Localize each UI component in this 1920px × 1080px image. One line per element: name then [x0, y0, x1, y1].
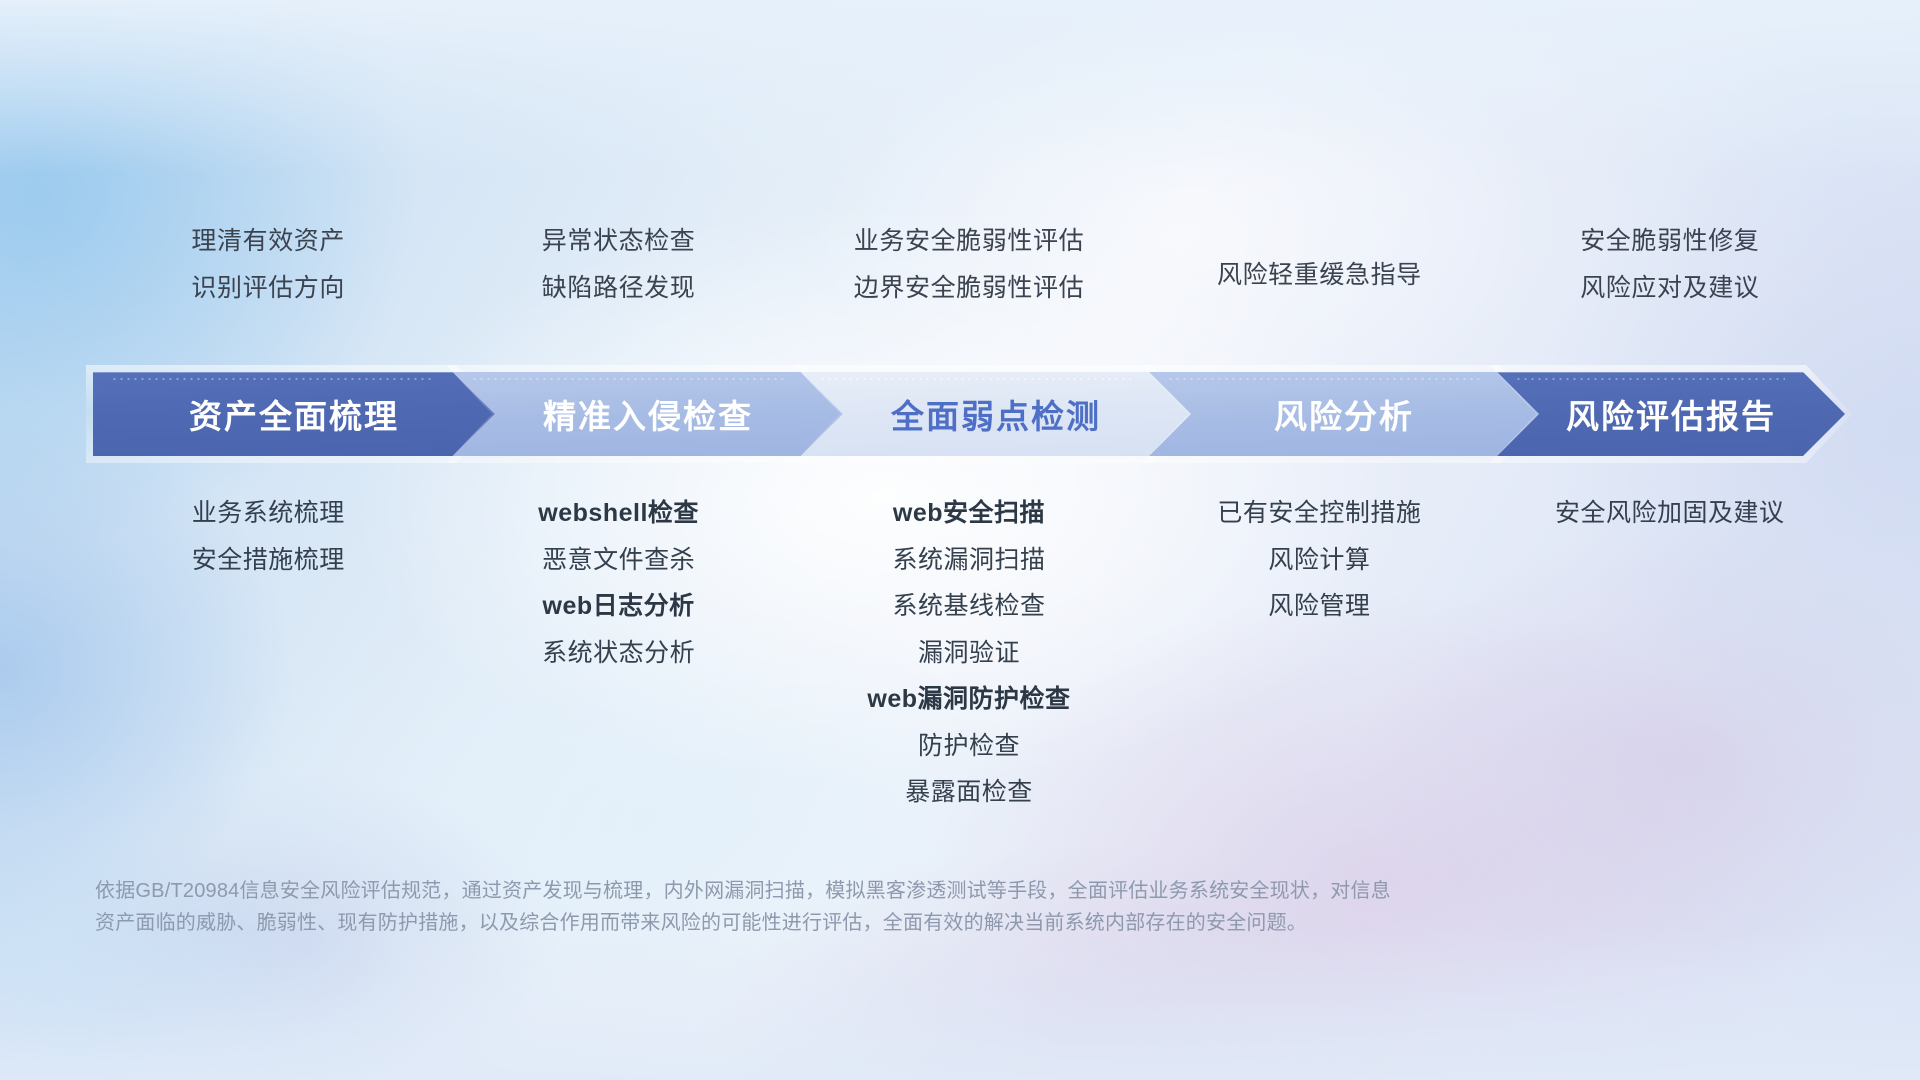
- chevron-label: 风险评估报告: [1566, 390, 1776, 438]
- list-item: 风险管理: [1268, 593, 1370, 621]
- list-item: 漏洞验证: [918, 640, 1020, 668]
- list-item: web日志分析: [543, 593, 695, 621]
- chevron-label: 资产全面梳理: [189, 390, 399, 438]
- list-item: 系统基线检查: [892, 593, 1045, 621]
- top-item: 异常状态检查: [542, 228, 696, 256]
- list-item: 系统漏洞扫描: [892, 547, 1045, 575]
- chevron-dot-texture: [471, 377, 783, 381]
- chevron-label: 全面弱点检测: [891, 390, 1101, 438]
- bottom-col-weakness-detection: web安全扫描 系统漏洞扫描 系统基线检查 漏洞验证 web漏洞防护检查 防护检…: [794, 500, 1144, 807]
- chevron-label: 精准入侵检查: [543, 390, 753, 438]
- top-item: 安全脆弱性修复: [1580, 228, 1759, 256]
- diagram-content: 理清有效资产 识别评估方向 异常状态检查 缺陷路径发现 业务安全脆弱性评估 边界…: [0, 0, 1920, 1080]
- chevron-stage-risk-analysis[interactable]: 风险分析: [1149, 372, 1539, 456]
- top-item: 风险轻重缓急指导: [1217, 262, 1422, 290]
- top-item: 风险应对及建议: [1580, 275, 1759, 303]
- list-item: web漏洞防护检查: [867, 686, 1070, 714]
- list-item: 安全风险加固及建议: [1555, 500, 1785, 528]
- chevron-stage-weakness-detection[interactable]: 全面弱点检测: [801, 372, 1191, 456]
- chevron-stage-intrusion-check[interactable]: 精准入侵检查: [453, 372, 843, 456]
- slide-canvas: 理清有效资产 识别评估方向 异常状态检查 缺陷路径发现 业务安全脆弱性评估 边界…: [0, 0, 1920, 1080]
- bottom-col-assessment-report: 安全风险加固及建议: [1495, 500, 1845, 528]
- list-item: 恶意文件查杀: [542, 547, 695, 575]
- list-item: 安全措施梳理: [192, 547, 345, 575]
- list-item: 系统状态分析: [542, 640, 695, 668]
- chevron-dot-texture: [819, 377, 1131, 381]
- top-col-intrusion-check: 异常状态检查 缺陷路径发现: [443, 228, 793, 302]
- top-col-assessment-report: 安全脆弱性修复 风险应对及建议: [1495, 228, 1845, 302]
- chevron-dot-texture: [111, 377, 435, 381]
- top-item: 边界安全脆弱性评估: [854, 275, 1084, 303]
- list-item: 已有安全控制措施: [1217, 500, 1421, 528]
- bottom-col-intrusion-check: webshell检查 恶意文件查杀 web日志分析 系统状态分析: [443, 500, 793, 667]
- footer-line-2: 资产面临的威胁、脆弱性、现有防护措施，以及综合作用而带来风险的可能性进行评估，全…: [95, 907, 1655, 939]
- bottom-col-risk-analysis: 已有安全控制措施 风险计算 风险管理: [1144, 500, 1494, 621]
- bottom-col-asset-inventory: 业务系统梳理 安全措施梳理: [93, 500, 443, 574]
- top-label-row: 理清有效资产 识别评估方向 异常状态检查 缺陷路径发现 业务安全脆弱性评估 边界…: [93, 228, 1845, 302]
- top-item: 缺陷路径发现: [542, 275, 696, 303]
- footer-description: 依据GB/T20984信息安全风险评估规范，通过资产发现与梳理，内外网漏洞扫描，…: [95, 875, 1655, 939]
- footer-line-1: 依据GB/T20984信息安全风险评估规范，通过资产发现与梳理，内外网漏洞扫描，…: [95, 875, 1655, 907]
- list-item: 风险计算: [1268, 547, 1370, 575]
- list-item: 防护检查: [918, 733, 1020, 761]
- top-col-weakness-detection: 业务安全脆弱性评估 边界安全脆弱性评估: [794, 228, 1144, 302]
- bottom-list-row: 业务系统梳理 安全措施梳理 webshell检查 恶意文件查杀 web日志分析 …: [93, 500, 1845, 807]
- chevron-dot-texture: [1515, 377, 1785, 381]
- chevron-stage-asset-inventory[interactable]: 资产全面梳理: [93, 372, 495, 456]
- list-item: webshell检查: [538, 500, 699, 528]
- list-item: 暴露面检查: [905, 779, 1033, 807]
- process-chevron-band: 资产全面梳理 精准入侵检查 全面弱点检测 风险分析: [93, 372, 1845, 456]
- chevron-stage-assessment-report[interactable]: 风险评估报告: [1497, 372, 1845, 456]
- chevron-label: 风险分析: [1274, 390, 1414, 438]
- top-item: 识别评估方向: [191, 275, 345, 303]
- top-item: 理清有效资产: [191, 228, 345, 256]
- list-item: web安全扫描: [893, 500, 1045, 528]
- chevron-dot-texture: [1167, 377, 1479, 381]
- list-item: 业务系统梳理: [192, 500, 345, 528]
- top-item: 业务安全脆弱性评估: [854, 228, 1084, 256]
- top-col-risk-analysis: 风险轻重缓急指导: [1144, 228, 1494, 302]
- top-col-asset-inventory: 理清有效资产 识别评估方向: [93, 228, 443, 302]
